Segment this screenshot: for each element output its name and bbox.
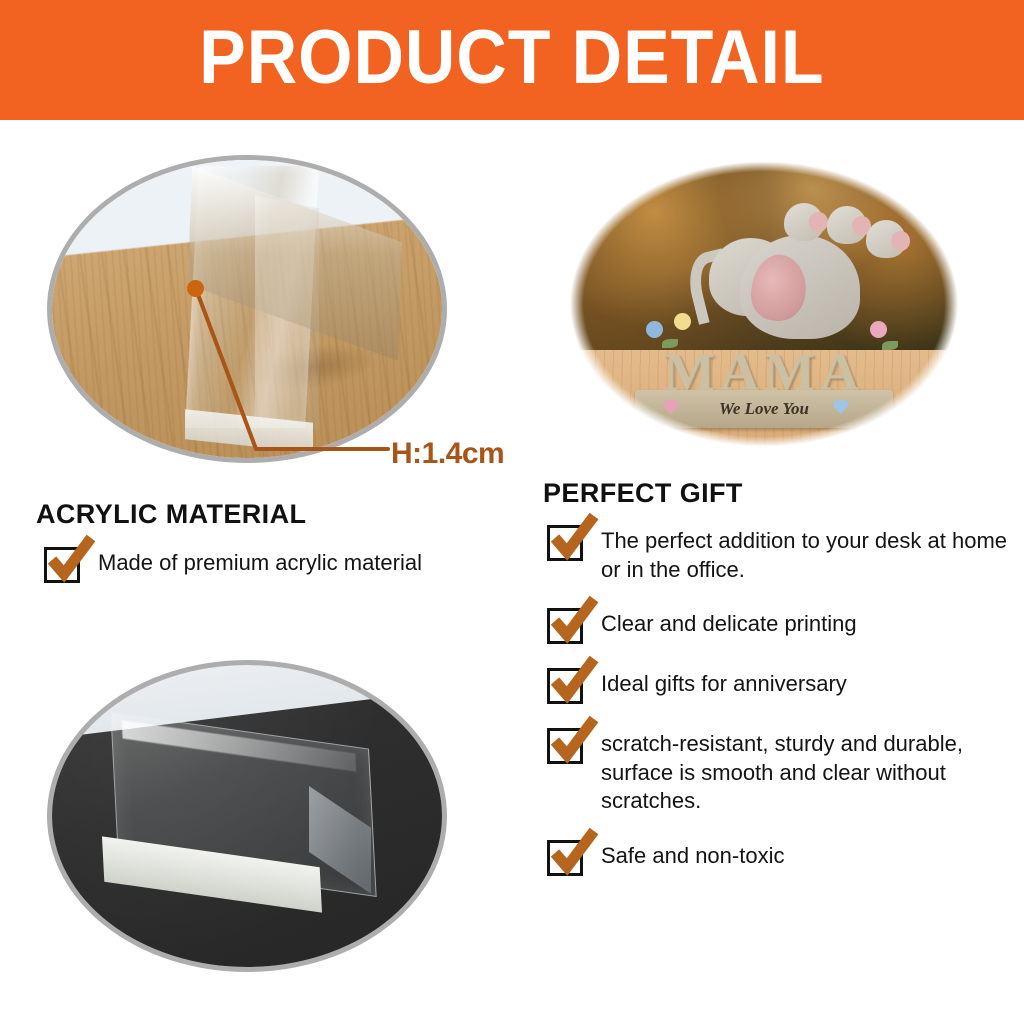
checkmark-icon xyxy=(45,533,97,585)
acrylic-block-on-slate-photo xyxy=(47,660,447,972)
baby-elephant-3 xyxy=(866,220,906,258)
thickness-callout-label: H:1.4cm xyxy=(391,437,504,471)
checkbox-checked[interactable] xyxy=(547,728,583,764)
checkmark-icon xyxy=(548,826,600,878)
baby-elephant-1-ear-tag xyxy=(809,212,828,232)
checkbox-checked[interactable] xyxy=(547,525,583,561)
list-item: The perfect addition to your desk at hom… xyxy=(547,523,1007,584)
checkbox-checked[interactable] xyxy=(547,840,583,876)
checkmark-icon xyxy=(548,654,600,706)
we-love-you-text: We Love You xyxy=(719,399,809,419)
acrylic-right-face xyxy=(255,195,319,429)
list-item-label: Ideal gifts for anniversary xyxy=(601,666,847,699)
list-item: Ideal gifts for anniversary xyxy=(547,666,1007,704)
slate-background xyxy=(52,665,442,967)
feature-list-perfect-gift: The perfect addition to your desk at hom… xyxy=(547,523,1007,898)
list-item-label: scratch-resistant, sturdy and durable, s… xyxy=(601,726,1007,816)
list-item: Clear and delicate printing xyxy=(547,606,1007,644)
flower-yellow xyxy=(674,313,691,330)
page-title: PRODUCT DETAIL xyxy=(199,20,824,96)
slate-upper-edge xyxy=(47,660,447,739)
ornament-base-plaque: We Love You xyxy=(635,390,894,428)
section-title-acrylic-material: ACRYLIC MATERIAL xyxy=(36,499,306,530)
list-item: scratch-resistant, sturdy and durable, s… xyxy=(547,726,1007,816)
mama-elephant-ornament-photo: MAMA We Love You xyxy=(568,160,960,448)
checkbox-checked[interactable] xyxy=(44,547,80,583)
list-item-label: Made of premium acrylic material xyxy=(98,545,422,578)
checkbox-checked[interactable] xyxy=(547,608,583,644)
checkbox-checked[interactable] xyxy=(547,668,583,704)
heart-blue xyxy=(835,401,848,414)
photo-scene-background xyxy=(52,160,442,458)
list-item-label: Clear and delicate printing xyxy=(601,606,857,639)
checkmark-icon xyxy=(548,594,600,646)
acrylic-edge-on-wood-photo xyxy=(47,155,447,463)
checkmark-icon xyxy=(548,511,600,563)
thickness-callout-dot xyxy=(187,280,204,297)
baby-elephant-1 xyxy=(784,203,824,241)
checkmark-icon xyxy=(548,714,600,766)
section-title-perfect-gift: PERFECT GIFT xyxy=(543,478,743,509)
heart-pink xyxy=(664,401,677,414)
feature-list-acrylic-material: Made of premium acrylic material xyxy=(44,545,514,605)
header-banner: PRODUCT DETAIL xyxy=(0,0,1024,120)
list-item-label: Safe and non-toxic xyxy=(601,838,784,871)
list-item-label: The perfect addition to your desk at hom… xyxy=(601,523,1007,584)
baby-elephant-2 xyxy=(827,206,867,244)
list-item: Made of premium acrylic material xyxy=(44,545,514,583)
list-item: Safe and non-toxic xyxy=(547,838,1007,876)
flower-pink xyxy=(870,321,887,338)
